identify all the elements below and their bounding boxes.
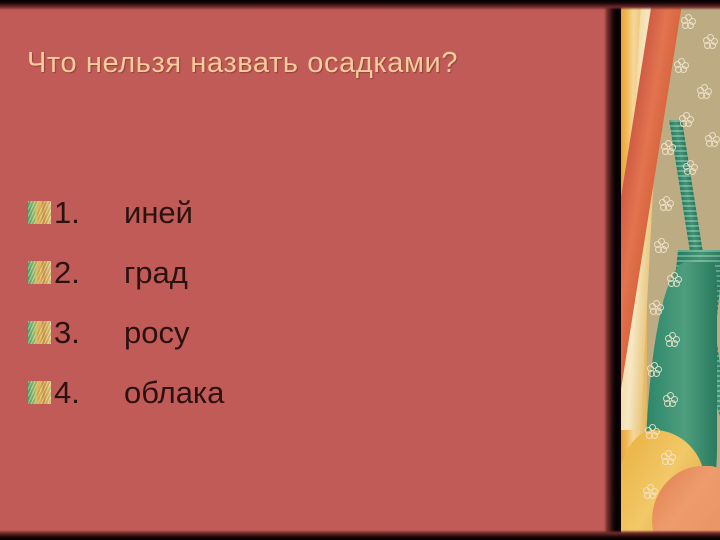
page-title: Что нельзя назвать осадками?: [27, 45, 587, 81]
flower-motif-icon: [683, 160, 698, 175]
flower-motif-icon: [674, 58, 689, 73]
list-item[interactable]: 4. облака: [28, 362, 588, 422]
flower-motif-icon: [645, 424, 660, 439]
slide-canvas: Что нельзя назвать осадками? 1. иней 2. …: [0, 0, 720, 540]
slide-content-area: Что нельзя назвать осадками? 1. иней 2. …: [0, 0, 604, 540]
floral-border-panel: [604, 0, 720, 540]
flower-motif-icon: [679, 112, 694, 127]
flower-motif-icon: [665, 332, 680, 347]
list-item[interactable]: 2. град: [28, 242, 588, 302]
list-item-number: 3.: [54, 317, 124, 348]
list-item-label: росу: [124, 317, 189, 348]
flower-motif-icon: [697, 84, 712, 99]
list-item-number: 4.: [54, 377, 124, 408]
list-item-number: 1.: [54, 197, 124, 228]
flower-motif-icon: [647, 362, 662, 377]
flower-motif-icon: [649, 300, 664, 315]
list-item[interactable]: 1. иней: [28, 182, 588, 242]
panel-inner-shadow: [604, 0, 621, 540]
flower-motif-icon: [667, 272, 682, 287]
list-item-number: 2.: [54, 257, 124, 288]
flower-motif-icon: [661, 450, 676, 465]
flower-motif-icon: [681, 14, 696, 29]
list-bullet-icon: [28, 201, 51, 224]
flower-motif-icon: [654, 238, 669, 253]
list-item-label: облака: [124, 377, 224, 408]
border-artwork: [621, 0, 720, 540]
flower-motif-icon: [659, 196, 674, 211]
flower-motif-icon: [663, 392, 678, 407]
list-bullet-icon: [28, 261, 51, 284]
flower-motif-icon: [661, 140, 676, 155]
list-bullet-icon: [28, 321, 51, 344]
list-item[interactable]: 3. росу: [28, 302, 588, 362]
flower-motif-icon: [705, 132, 720, 147]
flower-motif-icon: [643, 484, 658, 499]
answer-list: 1. иней 2. град 3. росу 4. облака: [28, 182, 588, 422]
list-bullet-icon: [28, 381, 51, 404]
list-item-label: иней: [124, 197, 193, 228]
flower-motif-icon: [703, 34, 718, 49]
list-item-label: град: [124, 257, 188, 288]
